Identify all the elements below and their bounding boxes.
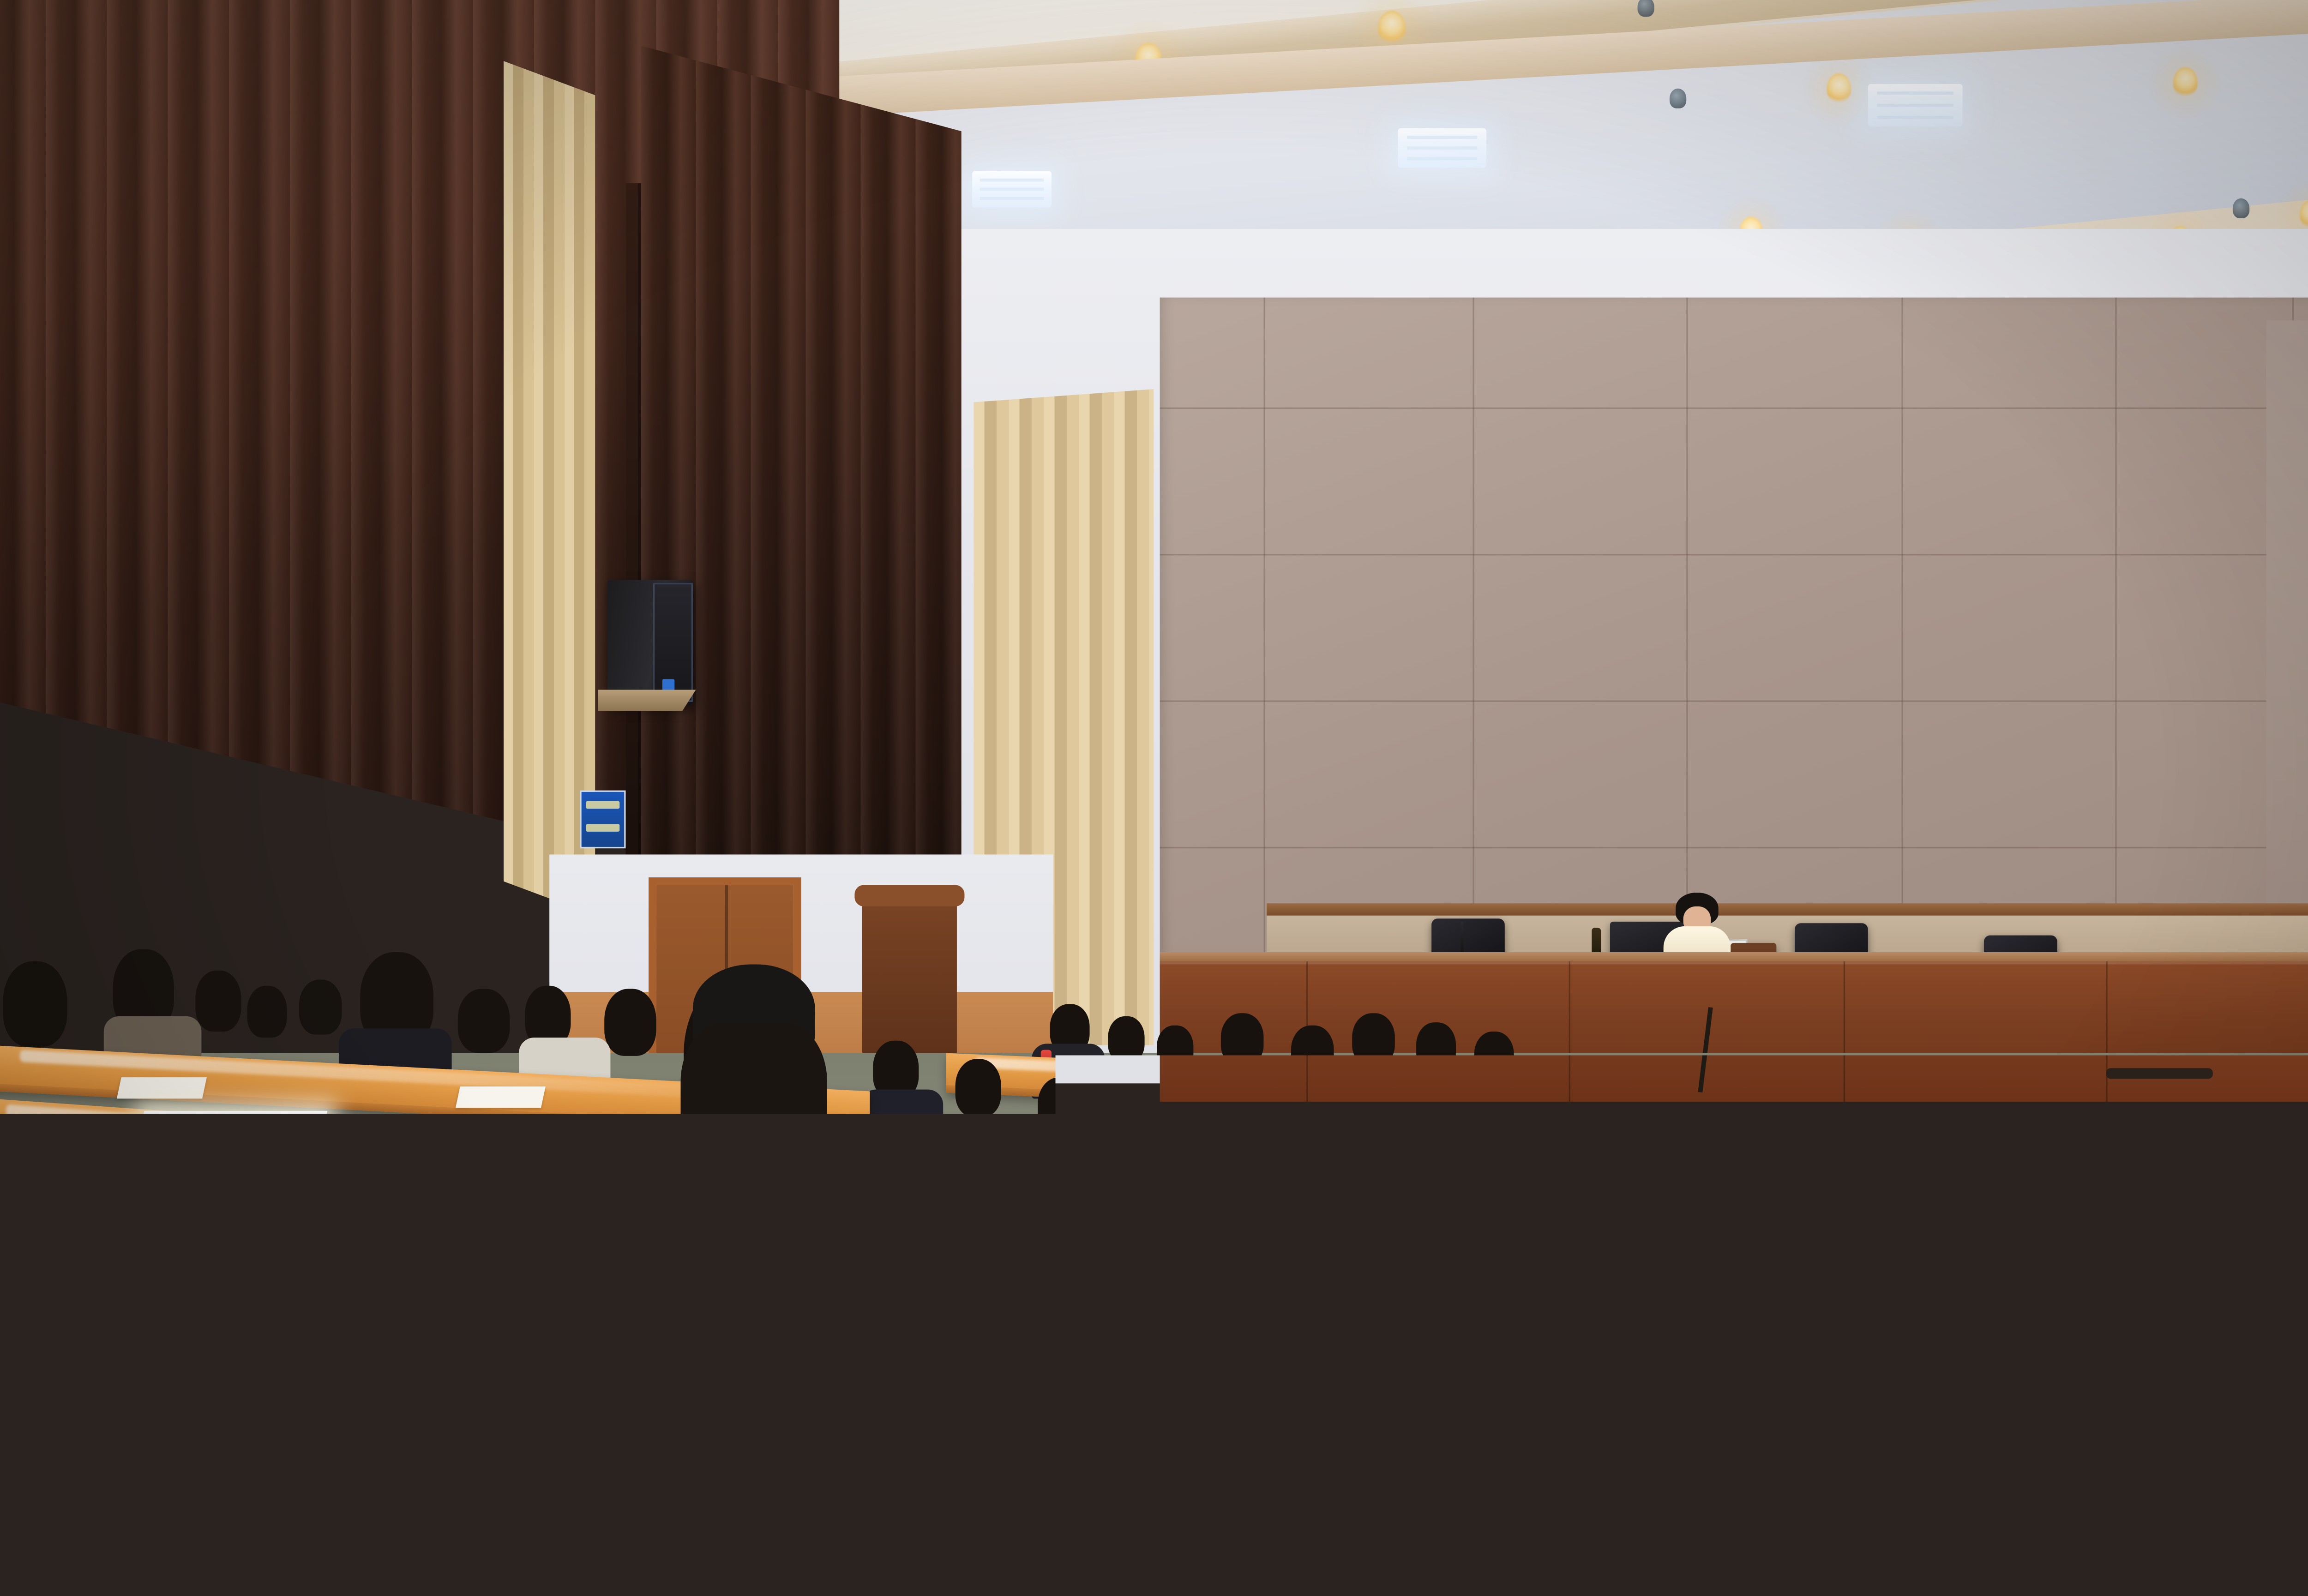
- desk-leg: [1136, 1266, 1166, 1425]
- audience-head: [458, 989, 510, 1053]
- curtain-beige-left: [504, 61, 595, 915]
- ceiling-panel-light: [972, 171, 1052, 207]
- slide-line-success: 成功：《基于“多维一体”的民族地区高校思政课教: [1386, 724, 2204, 762]
- slide-line-fail: 失败：《西部少数民族地区高职大学生思想政治教育: [1386, 648, 2204, 687]
- ceiling-downlight: [1827, 73, 1851, 104]
- audience-head: [1352, 1092, 1401, 1153]
- handout-paper: [394, 1141, 522, 1169]
- slide-line-heading: 题目：: [1386, 572, 2204, 613]
- chair-seat[interactable]: [267, 1409, 481, 1591]
- ceiling-panel-light: [1398, 128, 1486, 168]
- audience-head: [1758, 1065, 1804, 1120]
- smoke-detector-icon: [1637, 0, 1654, 17]
- foreground-chair: [0, 1233, 488, 1596]
- desk-leg: [1419, 1175, 1441, 1270]
- stage-curtain-center: [641, 46, 962, 900]
- handout-paper: [456, 1086, 546, 1108]
- projection-screen-frame: （一） 选题 题目： 忌讳一：“高职类”、“艺术类高职”等字眼 失败：《西部少数…: [1307, 447, 2253, 963]
- desk-leg: [1343, 1200, 1367, 1309]
- smoke-detector-icon: [2233, 198, 2249, 218]
- projection-screen: （一） 选题 题目： 忌讳一：“高职类”、“艺术类高职”等字眼 失败：《西部少数…: [1313, 453, 2246, 957]
- smoke-detector-icon: [1670, 89, 1686, 108]
- desk-leg: [946, 1337, 986, 1538]
- audience-head: [2011, 1086, 2060, 1147]
- seat-back[interactable]: [1077, 1297, 1129, 1428]
- slide-body: 题目： 忌讳一：“高职类”、“艺术类高职”等字眼 失败：《西部少数民族地区高职大…: [1386, 572, 2204, 864]
- seat-back[interactable]: [1374, 1203, 1413, 1296]
- ceiling-panel-light: [1868, 84, 1963, 127]
- handout-paper-stack: [137, 1111, 328, 1147]
- ceiling-downlight: [1378, 11, 1406, 44]
- slide-line-fail-cont: 模式研究》: [1386, 686, 2204, 724]
- audience-head: [247, 986, 287, 1038]
- speaker-bracket: [598, 690, 696, 711]
- handout-paper: [117, 1077, 207, 1098]
- wall-notice-sign: [580, 791, 625, 849]
- chair-back[interactable]: [259, 1221, 481, 1443]
- student-shoe: [864, 1562, 934, 1596]
- slide-line-taboo2: 忌讳二：“以浙江艺术职业学院为例”等字眼: [1386, 822, 2204, 864]
- slide-line-taboo1: 忌讳一：“高职类”、“艺术类高职”等字眼: [1386, 611, 2204, 651]
- ceiling-downlight: [2300, 200, 2308, 229]
- audience-head: [3, 961, 67, 1047]
- lecture-hall-photo: （一） 选题 题目： 忌讳一：“高职类”、“艺术类高职”等字眼 失败：《西部少数…: [0, 0, 2308, 1596]
- handout-paper: [1066, 1163, 1141, 1182]
- desk-leg: [1261, 1224, 1288, 1355]
- wall-speaker: [607, 580, 693, 705]
- audience-head: [195, 971, 241, 1032]
- slide-line-success-cont: 学模式研究》: [1386, 760, 2204, 800]
- ceiling-downlight: [2173, 67, 2198, 97]
- right-side-wall: [2266, 320, 2308, 961]
- audience-head: [299, 980, 342, 1035]
